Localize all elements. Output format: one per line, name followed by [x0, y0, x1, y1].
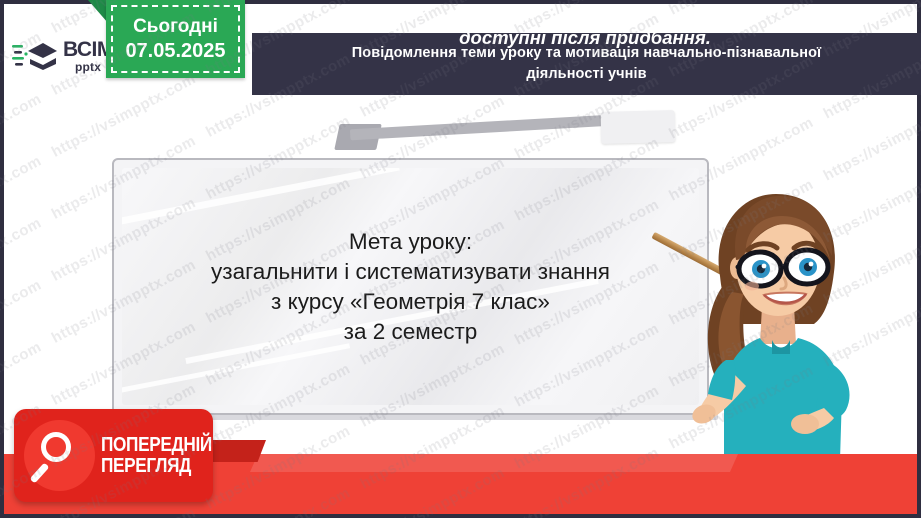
board-line-3: за 2 семестр [344, 317, 478, 346]
teacher-illustration [664, 168, 888, 468]
board-line-2: з курсу «Геометрія 7 клас» [271, 287, 550, 316]
today-date: 07.05.2025 [125, 40, 225, 63]
board-line-goal-title: Мета уроку: [349, 227, 472, 256]
today-badge: Сьогодні 07.05.2025 [106, 0, 245, 78]
banner-line1: Повна версія презентації та решта доповн… [260, 2, 910, 26]
board-line-1: узагальнити і систематизувати знання [211, 257, 610, 286]
magnifier-icon [24, 420, 95, 491]
preview-badge[interactable]: ПОПЕРЕДНІЙ ПЕРЕГЛЯД [14, 409, 213, 502]
purchase-banner-text: Повна версія презентації та решта доповн… [260, 2, 910, 51]
presentation-slide: https://vsimpptx.com https://vsimpptx.co… [0, 0, 921, 518]
magnifier-handle [30, 462, 50, 483]
magnifier-lens [41, 432, 71, 462]
whiteboard: Мета уроку: узагальнити і систематизуват… [112, 158, 709, 415]
whiteboard-text: Мета уроку: узагальнити і систематизуват… [114, 160, 707, 413]
banner-sheen [250, 454, 738, 472]
today-label: Сьогодні [133, 16, 218, 38]
graduation-cap-icon [12, 39, 58, 73]
board-eraser [601, 110, 676, 144]
preview-badge-line2: ПЕРЕГЛЯД [101, 456, 212, 476]
preview-badge-line1: ПОПЕРЕДНІЙ [101, 435, 212, 455]
banner-line2: доступні після придбання. [260, 26, 910, 50]
header-title-line2: діяльності учнів [287, 64, 887, 85]
